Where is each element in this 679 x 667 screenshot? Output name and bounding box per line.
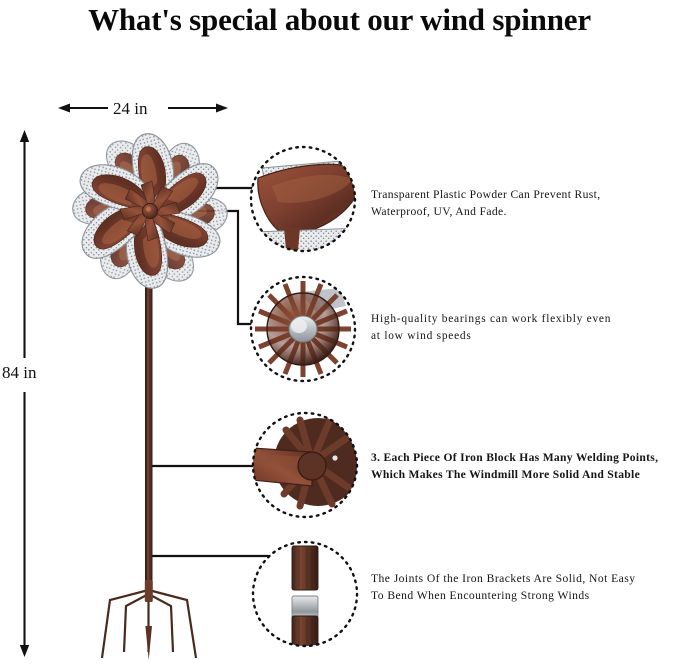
detail-coating [251, 147, 361, 252]
spinner-head [67, 128, 233, 293]
height-dimension-label: 84 in [2, 363, 36, 383]
detail-welding [252, 413, 362, 517]
callout-line: High-quality bearings can work flexibly … [371, 311, 679, 328]
wind-spinner-pole [145, 210, 153, 586]
callout-line: To Bend When Encountering Strong Winds [371, 587, 679, 604]
callout-line: Transparent Plastic Powder Can Prevent R… [371, 186, 679, 203]
detail-bearing [251, 277, 355, 381]
leader-line-bearing [150, 211, 268, 324]
detail-joints [253, 542, 357, 650]
callout-text-welding: 3. Each Piece Of Iron Block Has Many Wel… [371, 449, 679, 483]
callout-line: Which Makes The Windmill More Solid And … [371, 466, 679, 483]
callout-line: Waterproof, UV, And Fade. [371, 203, 679, 220]
leader-line-welding [149, 214, 268, 466]
page-title: What's special about our wind spinner [0, 2, 679, 38]
spinner-inner-star [120, 181, 180, 241]
callout-line: at low wind speeds [371, 328, 679, 345]
callout-line: The Joints Of the Iron Brackets Are Soli… [371, 570, 679, 587]
callout-text-joints: The Joints Of the Iron Brackets Are Soli… [371, 570, 679, 604]
ground-stake [102, 580, 196, 660]
infographic-canvas: What's special about our wind spinner 24… [0, 0, 679, 667]
callout-line: 3. Each Piece Of Iron Block Has Many Wel… [371, 449, 679, 466]
width-dimension-label: 24 in [113, 99, 147, 119]
callout-text-bearing: High-quality bearings can work flexibly … [371, 311, 679, 345]
leader-lines [147, 188, 278, 556]
callout-text-coating: Transparent Plastic Powder Can Prevent R… [371, 186, 679, 220]
height-dimension-arrow [20, 130, 29, 657]
